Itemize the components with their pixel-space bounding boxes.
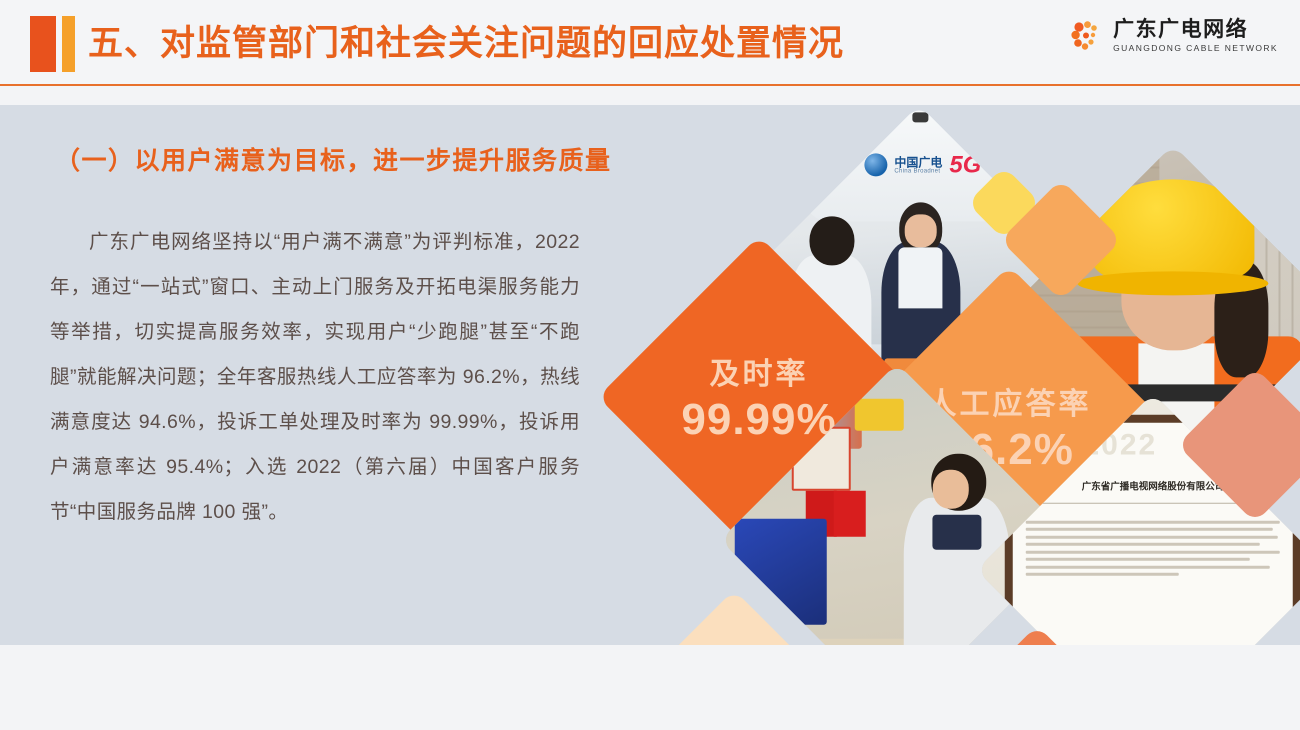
broadnet-brand-cn: 中国广电 bbox=[894, 156, 942, 168]
five-g-label: 5G bbox=[949, 153, 981, 177]
diamond-collage: 中国广电 China Broadnet 5G bbox=[600, 105, 1300, 645]
header-divider bbox=[0, 84, 1300, 86]
stat-value-timeliness: 99.99% bbox=[681, 395, 836, 445]
broadnet-brand-en: China Broadnet bbox=[894, 168, 942, 174]
brand-logo: 广东广电网络 GUANGDONG CABLE NETWORK bbox=[1070, 18, 1278, 54]
section-body-text: 广东广电网络坚持以“用户满不满意”为评判标准，2022 年，通过“一站式”窗口、… bbox=[50, 220, 580, 535]
stat-label-answer-rate: 人工应答率 bbox=[927, 379, 1092, 423]
stat-label-timeliness: 及时率 bbox=[710, 349, 809, 393]
logo-text-cn: 广东广电网络 bbox=[1113, 18, 1278, 41]
header-accent-bar-primary bbox=[30, 16, 56, 72]
logo-text-en: GUANGDONG CABLE NETWORK bbox=[1113, 42, 1278, 54]
section-heading: （一）以用户满意为目标，进一步提升服务质量 bbox=[55, 141, 612, 177]
page-title: 五、对监管部门和社会关注问题的回应处置情况 bbox=[88, 18, 844, 70]
content-panel: （一）以用户满意为目标，进一步提升服务质量 广东广电网络坚持以“用户满不满意”为… bbox=[0, 105, 1300, 645]
header-accent-bar-secondary bbox=[62, 16, 75, 72]
page-header: 五、对监管部门和社会关注问题的回应处置情况 广东广电网络 GUANGDONG C… bbox=[0, 0, 1300, 86]
logo-mark-icon bbox=[1070, 19, 1104, 53]
